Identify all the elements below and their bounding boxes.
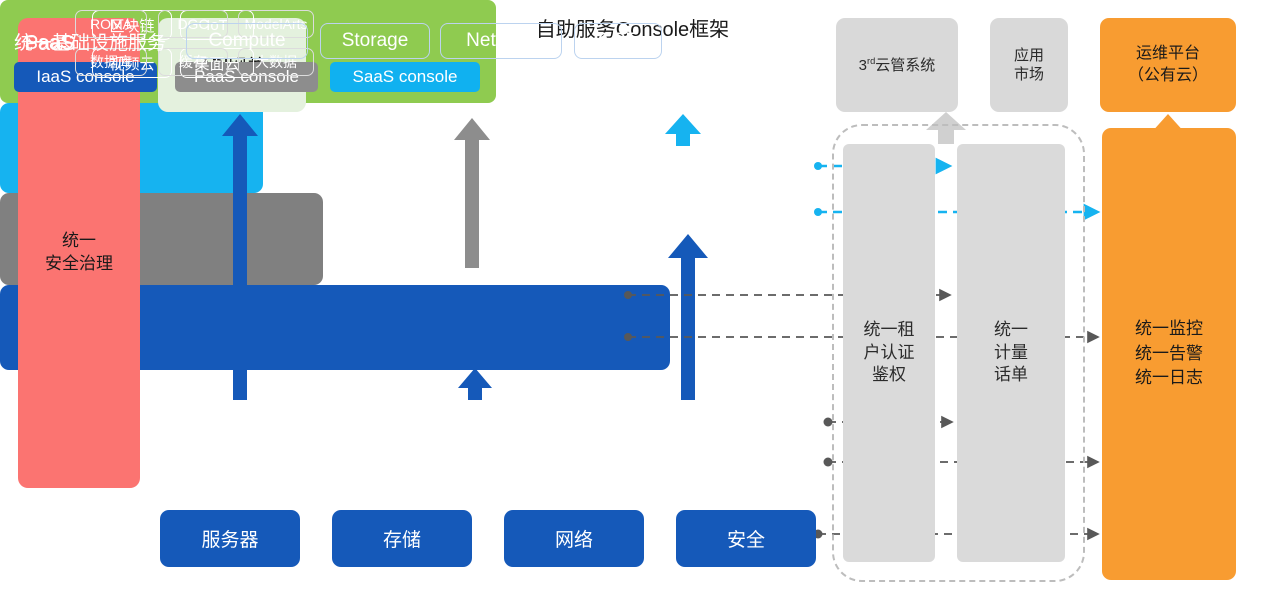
ops-panel-line2: 统一告警 [1135,342,1203,367]
tenant-auth-line3: 鉴权 [864,364,915,387]
infra-item-storage[interactable]: Storage [320,23,430,59]
ops-platform-line1: 运维平台 [1128,43,1208,65]
tenant-auth-column[interactable]: 统一租 户认证 鉴权 [843,144,935,562]
metering-billing-column[interactable]: 统一 计量 话单 [957,144,1065,562]
arrow-infra-to-saas [668,234,708,400]
ops-panel-line3: 统一日志 [1135,366,1203,391]
metering-line2: 计量 [994,342,1028,365]
metering-line1: 统一 [994,319,1028,342]
resource-box-network[interactable]: 网络 [504,510,644,567]
app-market-line2: 市场 [1014,65,1044,85]
ops-platform-box[interactable]: 运维平台 （公有云） [1100,18,1236,112]
resource-box-storage[interactable]: 存储 [332,510,472,567]
security-governance-line2: 安全治理 [45,253,113,276]
saas-flow-dot-1 [814,162,822,170]
ops-platform-line2: （公有云） [1128,65,1208,87]
ops-monitoring-panel[interactable]: 统一监控 统一告警 统一日志 [1102,128,1236,580]
third-party-cloud-mgmt-box[interactable]: 3rd云管系统 [836,18,958,112]
arrow-paas-to-console [454,118,490,268]
app-market-box[interactable]: 应用 市场 [990,18,1068,112]
third-party-label: 云管系统 [875,57,935,74]
arrow-saas-to-console [665,114,701,146]
infrastructure-label: 统一基础设施服务 [14,28,166,55]
metering-line3: 话单 [994,364,1028,387]
architecture-diagram: 统一 安全治理 API网关 自助服务Console框架 IaaS console… [0,0,1265,605]
third-party-prefix: 3 [859,57,867,74]
infra-item-compute[interactable]: Compute [186,23,308,59]
security-governance-line1: 统一 [45,230,113,253]
resource-box-security[interactable]: 安全 [676,510,816,567]
saas-flow-dot-2 [814,208,822,216]
saas-console-chip[interactable]: SaaS console [330,62,480,92]
tenant-auth-line2: 户认证 [864,342,915,365]
resource-box-server[interactable]: 服务器 [160,510,300,567]
arrow-infra-to-paas [458,368,492,400]
tenant-auth-line1: 统一租 [864,319,915,342]
ops-panel-line1: 统一监控 [1135,317,1203,342]
infra-item-cce[interactable]: CCE [574,23,662,59]
infra-item-network[interactable]: Network [440,23,562,59]
app-market-line1: 应用 [1014,46,1044,66]
